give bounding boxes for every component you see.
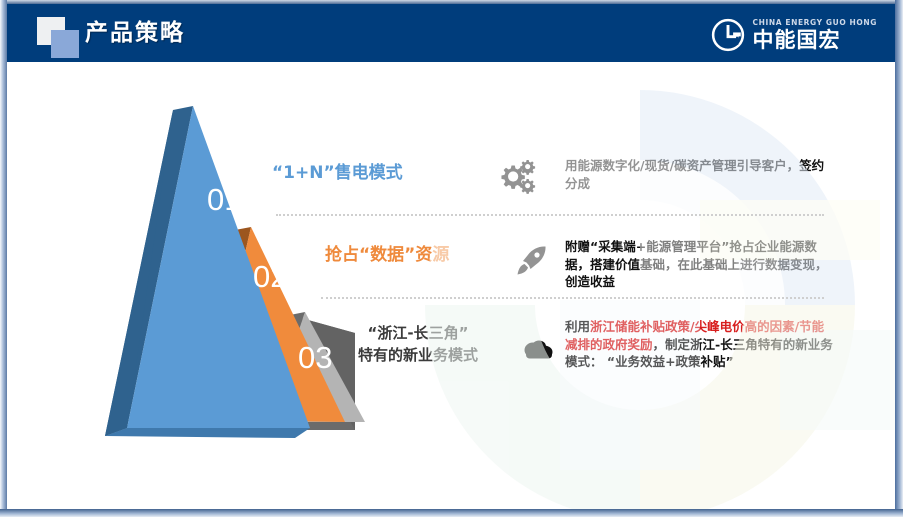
frame-left-edge: [0, 0, 7, 517]
separator-line-1: [276, 214, 824, 216]
row-description-2: 附赠“采集端+能源管理平台”抢占企业能源数据，搭建价值基础，在此基础上进行数据变…: [565, 238, 835, 291]
pyramid-number-01: 01: [207, 182, 241, 217]
header-square-blue-icon: [51, 30, 79, 58]
pyramid-number-02: 02: [253, 259, 287, 294]
logo-english-text: CHINA ENERGY GUO HONG: [752, 18, 877, 28]
pyramid-diagram: 01 02 03: [55, 100, 405, 460]
row-description-1: 用能源数字化/现货/碳资产管理引导客户，签约分成: [565, 157, 835, 192]
frame-right-edge: [895, 0, 903, 517]
header-bar: 产品策略 CHINA ENERGY GUO HONG 中能国宏: [7, 4, 895, 62]
slide-canvas: 产品策略 CHINA ENERGY GUO HONG 中能国宏: [0, 0, 903, 517]
company-logo: CHINA ENERGY GUO HONG 中能国宏: [711, 14, 877, 56]
page-title: 产品策略: [85, 18, 185, 48]
circle-energy-logo-icon: [711, 18, 745, 52]
row-description-3: 利用浙江储能补贴政策/尖峰电价高的因素/节能减排的政府奖励，制定浙江-长三角特有…: [565, 318, 835, 371]
logo-chinese-text: 中能国宏: [752, 28, 877, 52]
rocket-icon: [510, 240, 552, 282]
separator-line-2: [321, 297, 824, 299]
frame-bottom-edge: [0, 509, 903, 517]
gears-icon: [496, 155, 538, 197]
cloud-icon: [518, 330, 560, 372]
row-3-desc-prefix: 利用: [565, 319, 590, 334]
pyramid-number-03: 03: [298, 340, 332, 375]
